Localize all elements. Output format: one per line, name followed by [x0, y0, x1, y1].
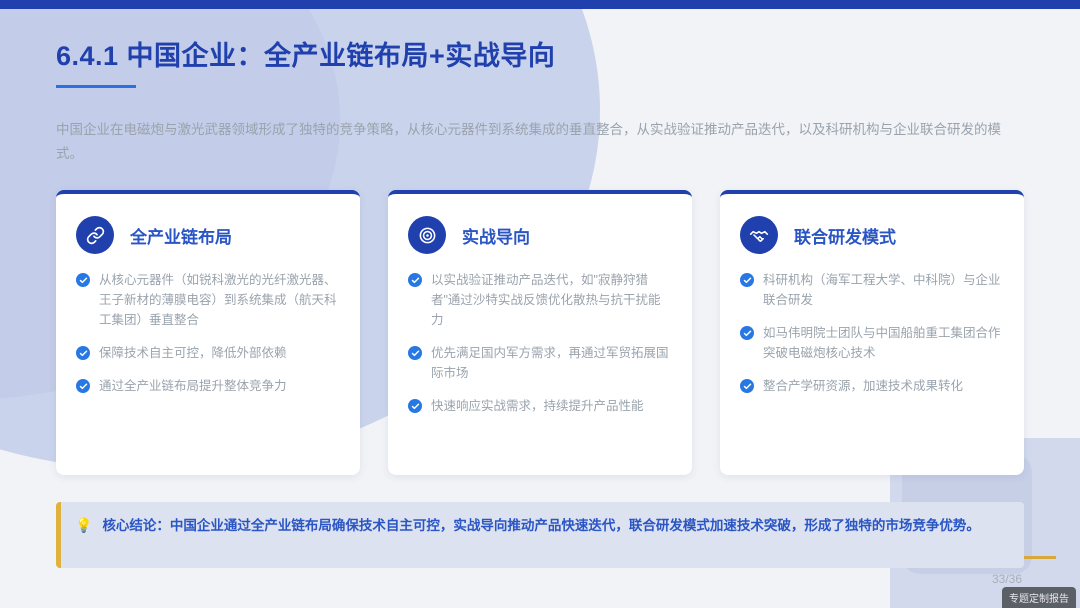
list-item: 从核心元器件（如锐科激光的光纤激光器、王子新材的薄膜电容）到系统集成（航天科工集…	[76, 270, 340, 330]
list-item: 快速响应实战需求，持续提升产品性能	[408, 396, 672, 416]
list-item: 科研机构（海军工程大学、中科院）与企业联合研发	[740, 270, 1004, 310]
check-circle-icon	[408, 273, 422, 287]
list-item-text: 优先满足国内军方需求，再通过军贸拓展国际市场	[431, 343, 672, 383]
title-underline	[56, 85, 136, 88]
handshake-icon	[740, 216, 778, 254]
list-item: 如马伟明院士团队与中国船舶重工集团合作突破电磁炮核心技术	[740, 323, 1004, 363]
list-item: 保障技术自主可控，降低外部依赖	[76, 343, 340, 363]
check-circle-icon	[740, 326, 754, 340]
cards-container: 全产业链布局 从核心元器件（如锐科激光的光纤激光器、王子新材的薄膜电容）到系统集…	[56, 190, 1024, 475]
list-item: 以实战验证推动产品迭代，如"寂静狩猎者"通过沙特实战反馈优化散热与抗干扰能力	[408, 270, 672, 330]
card-bullet-list: 科研机构（海军工程大学、中科院）与企业联合研发 如马伟明院士团队与中国船舶重工集…	[740, 270, 1004, 396]
card-title: 联合研发模式	[794, 223, 896, 248]
card-joint-rd-model[interactable]: 联合研发模式 科研机构（海军工程大学、中科院）与企业联合研发 如马伟明院士团队与…	[720, 190, 1024, 475]
page-number: 33/36	[992, 572, 1022, 586]
card-bullet-list: 以实战验证推动产品迭代，如"寂静狩猎者"通过沙特实战反馈优化散热与抗干扰能力 优…	[408, 270, 672, 416]
list-item: 整合产学研资源，加速技术成果转化	[740, 376, 1004, 396]
slide-subtitle: 中国企业在电磁炮与激光武器领域形成了独特的竞争策略，从核心元器件到系统集成的垂直…	[56, 118, 1024, 166]
list-item-text: 通过全产业链布局提升整体竞争力	[99, 376, 287, 396]
list-item-text: 保障技术自主可控，降低外部依赖	[99, 343, 287, 363]
check-circle-icon	[76, 346, 90, 360]
key-conclusion-banner: 💡 核心结论：中国企业通过全产业链布局确保技术自主可控，实战导向推动产品快速迭代…	[56, 502, 1024, 568]
card-title: 全产业链布局	[130, 223, 232, 248]
card-header: 联合研发模式	[740, 216, 1004, 254]
link-icon	[76, 216, 114, 254]
lightbulb-icon: 💡	[75, 514, 92, 536]
card-full-chain-layout[interactable]: 全产业链布局 从核心元器件（如锐科激光的光纤激光器、王子新材的薄膜电容）到系统集…	[56, 190, 360, 475]
card-bullet-list: 从核心元器件（如锐科激光的光纤激光器、王子新材的薄膜电容）到系统集成（航天科工集…	[76, 270, 340, 396]
top-accent-bar	[0, 0, 1080, 9]
target-icon	[408, 216, 446, 254]
check-circle-icon	[740, 273, 754, 287]
list-item: 优先满足国内军方需求，再通过军贸拓展国际市场	[408, 343, 672, 383]
check-circle-icon	[408, 399, 422, 413]
list-item-text: 科研机构（海军工程大学、中科院）与企业联合研发	[763, 270, 1004, 310]
watermark-badge: 专题定制报告	[1002, 587, 1076, 608]
list-item-text: 从核心元器件（如锐科激光的光纤激光器、王子新材的薄膜电容）到系统集成（航天科工集…	[99, 270, 340, 330]
list-item-text: 如马伟明院士团队与中国船舶重工集团合作突破电磁炮核心技术	[763, 323, 1004, 363]
slide-header: 6.4.1 中国企业：全产业链布局+实战导向	[56, 34, 555, 88]
list-item-text: 整合产学研资源，加速技术成果转化	[763, 376, 963, 396]
card-header: 实战导向	[408, 216, 672, 254]
page-title: 6.4.1 中国企业：全产业链布局+实战导向	[56, 34, 555, 73]
check-circle-icon	[408, 346, 422, 360]
check-circle-icon	[740, 379, 754, 393]
card-combat-oriented[interactable]: 实战导向 以实战验证推动产品迭代，如"寂静狩猎者"通过沙特实战反馈优化散热与抗干…	[388, 190, 692, 475]
check-circle-icon	[76, 379, 90, 393]
check-circle-icon	[76, 273, 90, 287]
conclusion-text: 核心结论：中国企业通过全产业链布局确保技术自主可控，实战导向推动产品快速迭代，联…	[102, 514, 980, 537]
card-header: 全产业链布局	[76, 216, 340, 254]
list-item-text: 快速响应实战需求，持续提升产品性能	[431, 396, 644, 416]
list-item-text: 以实战验证推动产品迭代，如"寂静狩猎者"通过沙特实战反馈优化散热与抗干扰能力	[431, 270, 672, 330]
list-item: 通过全产业链布局提升整体竞争力	[76, 376, 340, 396]
slide-canvas: 6.4.1 中国企业：全产业链布局+实战导向 中国企业在电磁炮与激光武器领域形成…	[0, 0, 1080, 608]
card-title: 实战导向	[462, 223, 530, 248]
